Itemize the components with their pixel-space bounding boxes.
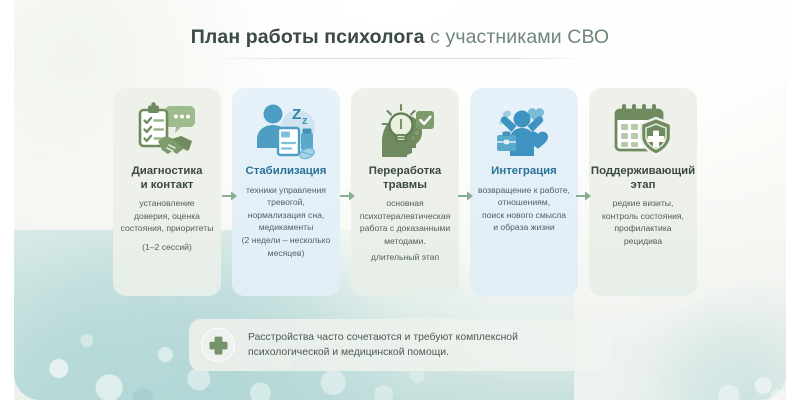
page-title-light: с участниками СВО	[430, 26, 609, 48]
stage-body-line: установление	[121, 197, 214, 210]
stage-title-line: Интеграция	[491, 165, 557, 179]
stage-title-line: и контакт	[132, 179, 203, 193]
stage-body-line: контроль состояния,	[602, 210, 684, 223]
summary-line: психологической и медицинской помощи.	[248, 345, 518, 361]
stage-card-body: редкие визиты, контроль состояния, профи…	[601, 197, 685, 247]
stage-title-line: Стабилизация	[246, 165, 327, 179]
stage-card-maintenance[interactable]: Поддерживающий этап редкие визиты, контр…	[589, 88, 697, 296]
header: План работы психолога с участниками СВО	[0, 25, 800, 59]
stage-body-line: состояния, приоритеты	[121, 222, 214, 235]
stage-body-line: тревогой,	[242, 196, 331, 209]
right-margin-mask	[786, 0, 800, 400]
stage-title-line: Переработка	[369, 165, 441, 179]
stage-card-stabilization[interactable]: Z z	[232, 88, 340, 296]
stage-body-line: основная	[360, 197, 451, 210]
left-margin-mask	[0, 0, 14, 400]
summary-banner-text: Расстройства часто сочетаются и требуют …	[248, 330, 518, 361]
stage-body-line: медикаменты	[242, 221, 331, 234]
stage-body-line: поиск нового смысла	[478, 209, 570, 222]
person-hearts-briefcase-icon	[493, 99, 555, 163]
stage-body-line: работа с доказанными	[360, 222, 451, 235]
stage-body-line: нормализация сна,	[242, 209, 331, 222]
stage-card-body: основная психотералевтическая работа с д…	[359, 197, 452, 263]
stage-body-line: (2 недели – несколько	[242, 234, 331, 247]
bokeh-texture-bottom-right	[596, 280, 786, 400]
head-lightbulb-check-icon	[374, 99, 436, 163]
stage-body-line: и образа жизни	[478, 221, 570, 234]
stage-card-diagnostics[interactable]: Диагностика и контакт установление довер…	[113, 88, 221, 296]
stage-body-line: отношениям,	[478, 196, 570, 209]
stage-body-line: рецидива	[602, 235, 684, 248]
page-title-strong: План работы психолога	[191, 26, 425, 48]
stage-card-title: Переработка травмы	[369, 165, 441, 192]
summary-banner: Расстройства часто сочетаются и требуют …	[189, 319, 611, 371]
stage-body-line: профилактика	[602, 222, 684, 235]
stage-body-line: длительный этап	[360, 251, 451, 264]
stage-body-line: техники управления	[242, 184, 331, 197]
stage-title-line: травмы	[369, 179, 441, 193]
stage-card-title: Поддерживающий этап	[591, 165, 695, 192]
summary-line: Расстройства часто сочетаются и требуют …	[248, 330, 518, 346]
stage-title-line: Диагностика	[132, 165, 203, 179]
stage-card-title: Стабилизация	[246, 165, 327, 179]
stage-card-integration[interactable]: Интеграция возвращение к работе, отношен…	[470, 88, 578, 296]
stage-body-line: возвращение к работе,	[478, 184, 570, 197]
infographic-canvas: План работы психолога с участниками СВО	[0, 0, 800, 400]
calendar-shield-icon	[612, 99, 674, 163]
stage-card-trauma-processing[interactable]: Переработка травмы основная психотералев…	[351, 88, 459, 296]
stage-body-line: месяцев)	[242, 247, 331, 260]
stage-title-line: этап	[591, 179, 695, 193]
stage-cards-row: Диагностика и контакт установление довер…	[113, 88, 697, 296]
stage-body-line: доверия, оценка	[121, 210, 214, 223]
svg-text:z: z	[302, 115, 308, 127]
stage-card-body: установление доверия, оценка состояния, …	[120, 197, 215, 253]
stage-card-title: Диагностика и контакт	[132, 165, 203, 192]
clipboard-handshake-icon	[136, 99, 198, 163]
stage-title-line: Поддерживающий	[591, 165, 695, 179]
stage-card-body: возвращение к работе, отношениям, поиск …	[477, 184, 571, 234]
bokeh-bubbles-bottom-right	[596, 280, 786, 400]
stage-card-title: Интеграция	[491, 165, 557, 179]
sleep-medication-icon: Z z	[254, 99, 318, 163]
stage-body-line: редкие визиты,	[602, 197, 684, 210]
title-divider	[210, 58, 590, 59]
stage-card-body: техники управления тревогой, нормализаци…	[241, 184, 332, 260]
stage-body-line: (1–2 сессий)	[121, 241, 214, 254]
svg-text:Z: Z	[292, 106, 301, 123]
stage-body-line: методами.	[360, 235, 451, 248]
medical-cross-icon	[201, 328, 235, 362]
stage-body-line: психотералевтическая	[360, 210, 451, 223]
page-title: План работы психолога с участниками СВО	[0, 25, 800, 49]
